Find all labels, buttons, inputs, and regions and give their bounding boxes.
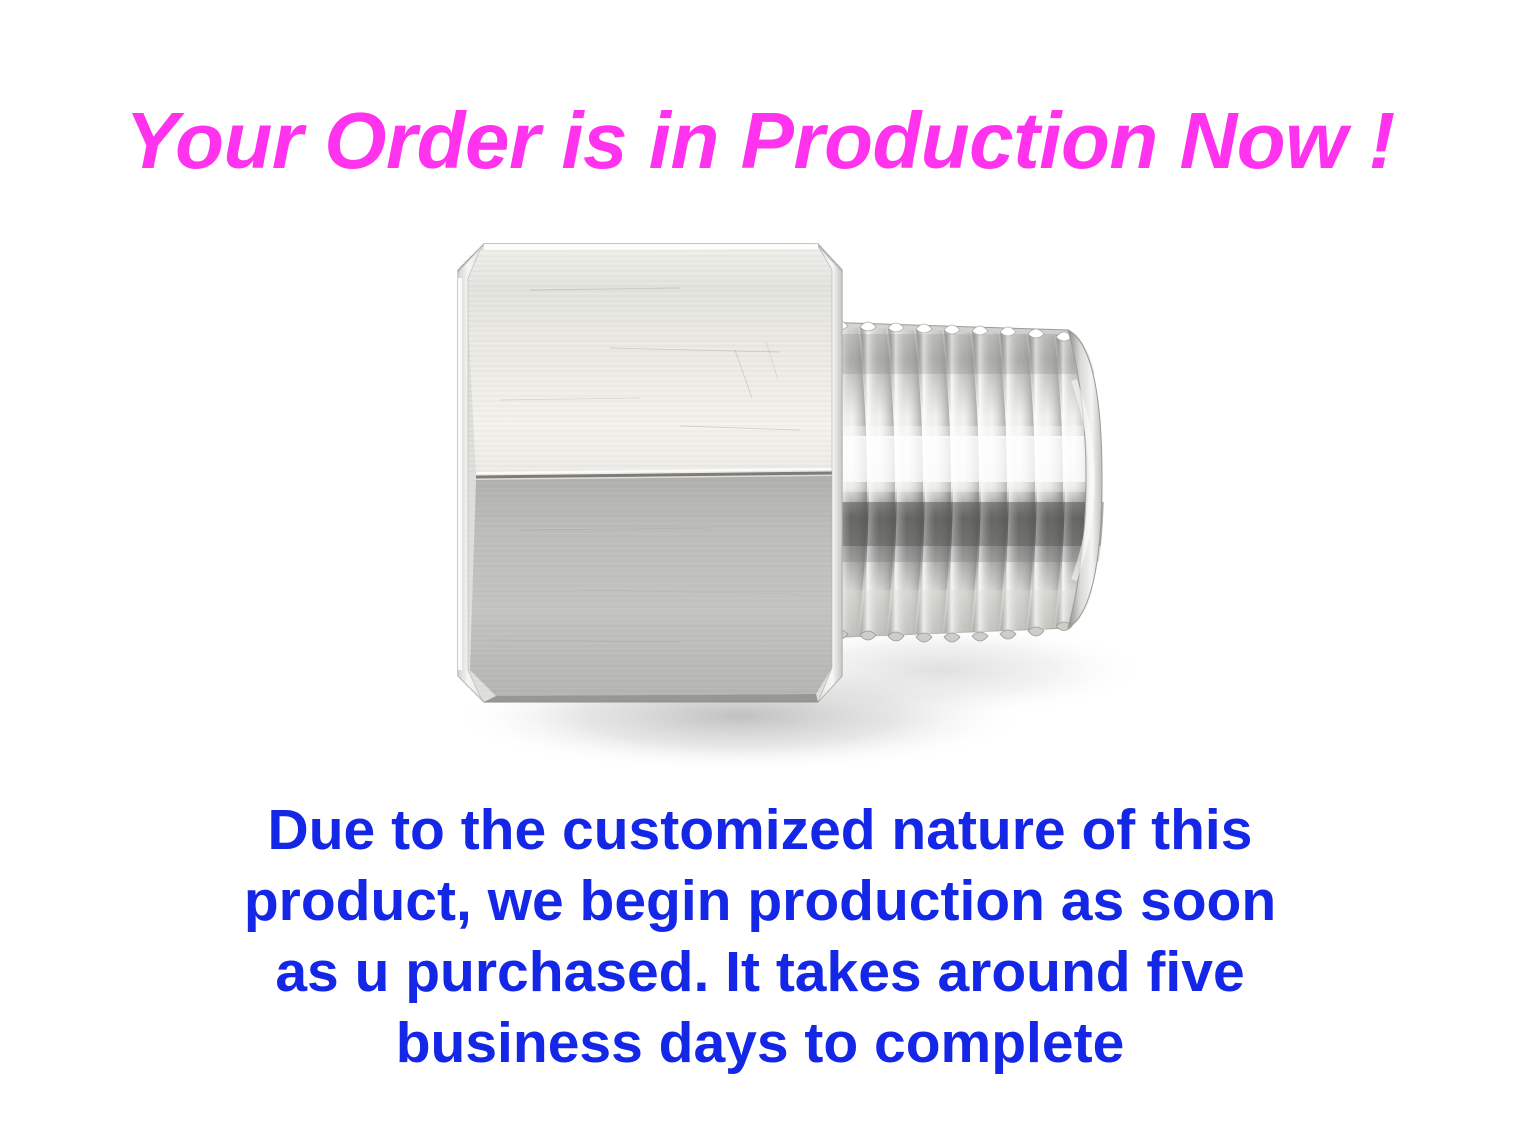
production-notice: Due to the customized nature of this pro…: [0, 795, 1520, 1079]
notice-line-2: product, we begin production as soon: [0, 866, 1520, 937]
promo-banner: Your Order is in Production Now !: [0, 0, 1520, 1140]
page-title: Your Order is in Production Now !: [0, 96, 1520, 186]
product-photo: [380, 230, 1200, 790]
notice-line-3: as u purchased. It takes around five: [0, 937, 1520, 1008]
notice-line-4: business days to complete: [0, 1008, 1520, 1079]
notice-line-1: Due to the customized nature of this: [0, 795, 1520, 866]
hex-adapter-fitting-illustration: [380, 230, 1200, 790]
hex-body: [450, 240, 850, 706]
threaded-nipple: [820, 321, 1110, 642]
